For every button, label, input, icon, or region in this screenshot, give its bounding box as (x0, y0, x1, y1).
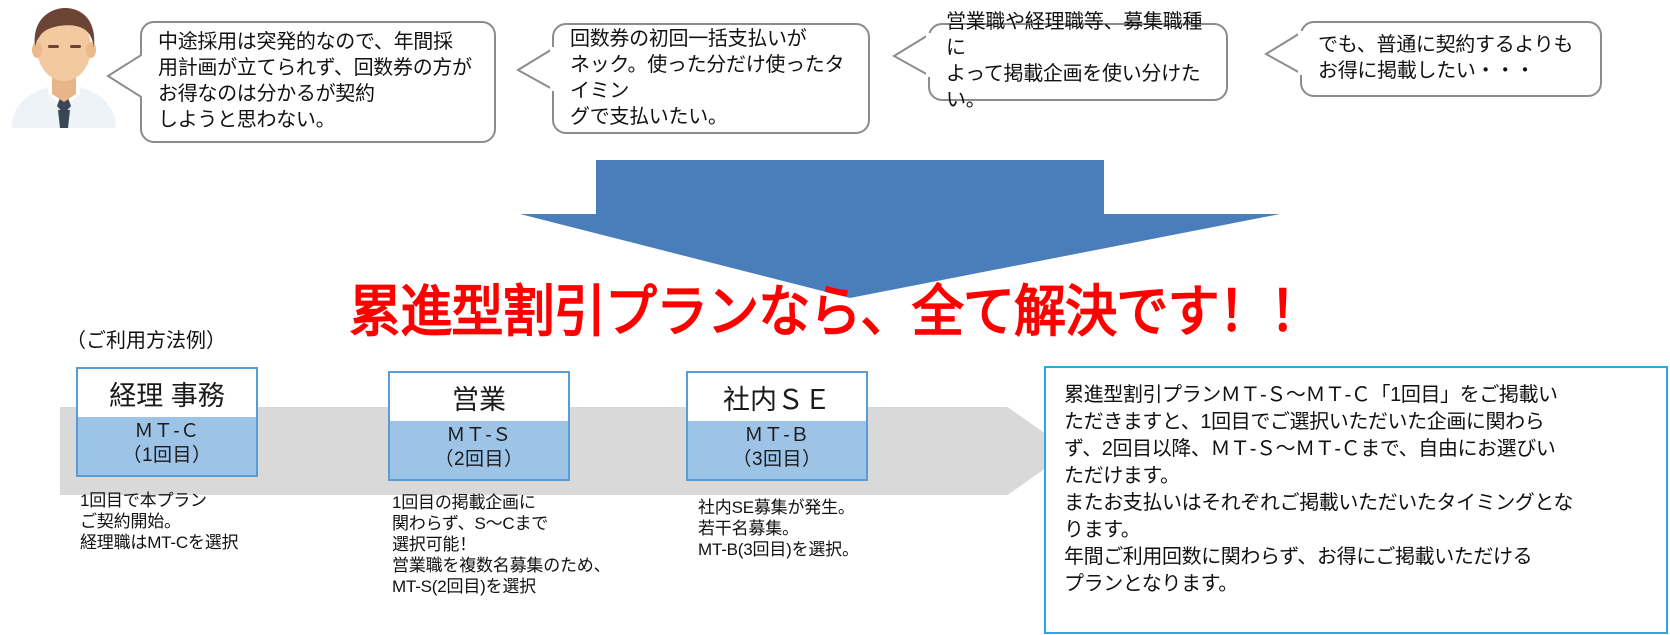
step-box-3: 社内ＳＥ ＭＴ-Ｂ （3回目） (686, 371, 868, 481)
step-box-3-plan: ＭＴ-Ｂ （3回目） (688, 421, 866, 479)
step-box-1-plan: ＭＴ-Ｃ （1回目） (78, 417, 256, 475)
speech-bubble-2-text: 回数券の初回一括支払いが ネック。使った分だけ使ったタイミン グで支払いたい。 (570, 26, 856, 130)
speech-bubble-4-text: でも、普通に契約するよりも お得に掲載したい・・・ (1318, 32, 1573, 84)
step-box-1-title: 経理 事務 (78, 369, 256, 417)
speech-bubble-3-tail (890, 32, 932, 80)
step-box-2-plan: ＭＴ-Ｓ （2回目） (390, 421, 568, 479)
step-caption-3: 社内SE募集が発生。 若干名募集。 MT-B(3回目)を選択。 (698, 497, 859, 560)
plan-explanation-text: 累進型割引プランＭＴ-Ｓ～ＭＴ-Ｃ「1回目」をご掲載い ただきますと、1回目でご… (1064, 382, 1652, 598)
step-caption-2: 1回目の掲載企画に 関わらず、S～Cまで 選択可能！ 営業職を複数名募集のため、… (392, 492, 610, 597)
plan-explanation-panel: 累進型割引プランＭＴ-Ｓ～ＭＴ-Ｃ「1回目」をご掲載い ただきますと、1回目でご… (1044, 366, 1668, 634)
usage-example-label: （ご利用方法例） (66, 329, 226, 353)
speech-bubble-3-text: 営業職や経理職等、募集職種に よって掲載企画を使い分けたい。 (946, 9, 1214, 113)
step-box-2: 営業 ＭＴ-Ｓ （2回目） (388, 371, 570, 481)
speech-bubble-2-tail (514, 46, 556, 94)
speech-bubble-2: 回数券の初回一括支払いが ネック。使った分だけ使ったタイミン グで支払いたい。 (552, 23, 870, 134)
step-box-1: 経理 事務 ＭＴ-Ｃ （1回目） (76, 367, 258, 477)
page-title: 累進型割引プランなら、全て解決です！！ (58, 283, 1611, 343)
step-caption-1: 1回目で本プラン ご契約開始。 経理職はMT-Cを選択 (80, 490, 238, 553)
blue-down-arrow-icon (520, 160, 1300, 300)
speech-bubble-1-text: 中途採用は突発的なので、年間採 用計画が立てられず、回数券の方が お得なのは分か… (158, 29, 472, 133)
step-box-2-title: 営業 (390, 373, 568, 421)
step-box-3-title: 社内ＳＥ (688, 373, 866, 421)
avatar (8, 4, 120, 128)
speech-bubble-4-tail (1262, 30, 1304, 78)
speech-bubble-1: 中途採用は突発的なので、年間採 用計画が立てられず、回数券の方が お得なのは分か… (140, 21, 496, 143)
slide-canvas: 中途採用は突発的なので、年間採 用計画が立てられず、回数券の方が お得なのは分か… (0, 0, 1670, 635)
speech-bubble-4: でも、普通に契約するよりも お得に掲載したい・・・ (1300, 21, 1602, 97)
speech-bubble-3: 営業職や経理職等、募集職種に よって掲載企画を使い分けたい。 (928, 23, 1228, 101)
